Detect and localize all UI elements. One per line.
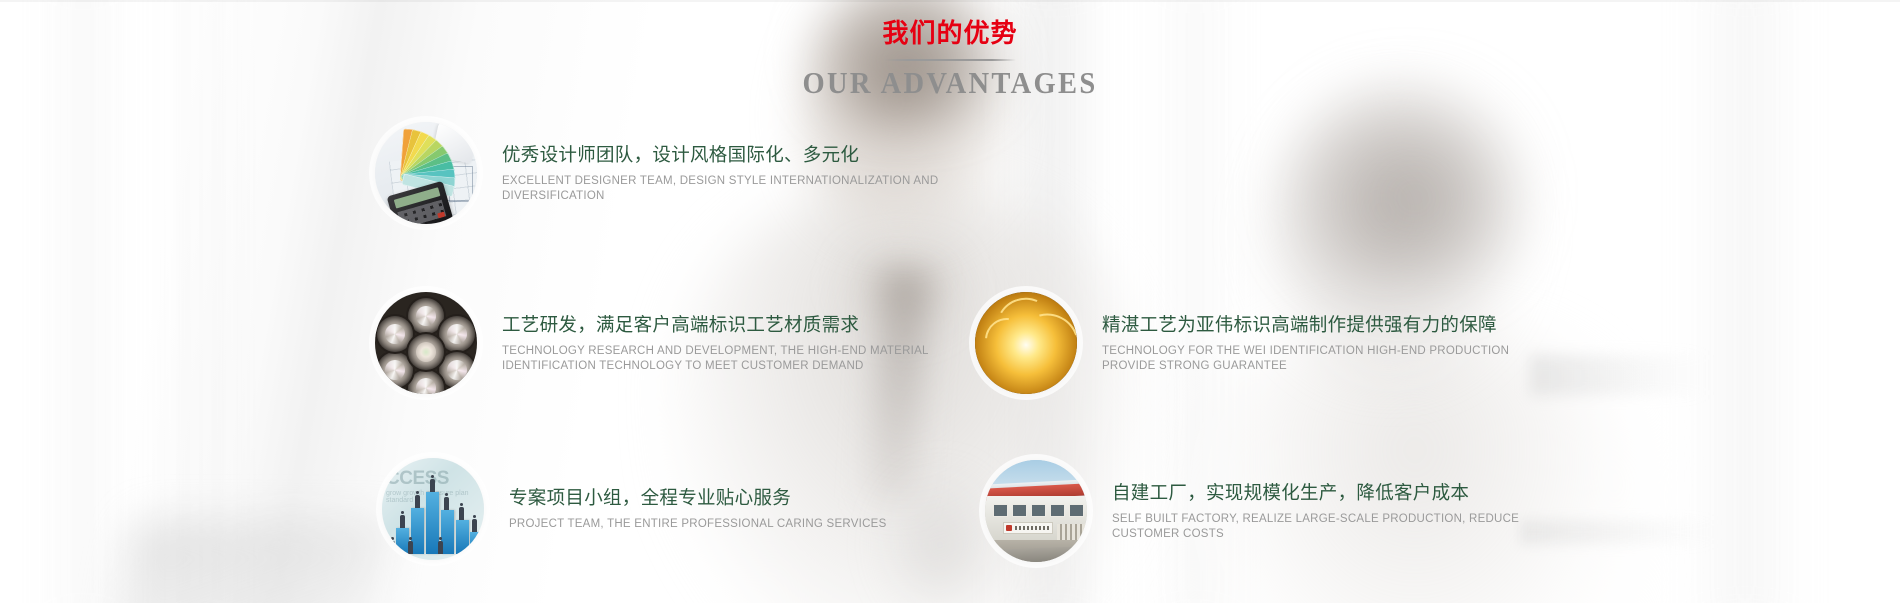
feature-title: 自建工厂，实现规模化生产，降低客户成本	[1112, 481, 1552, 507]
feature-item[interactable]: 精湛工艺为亚伟标识高端制作提供强有力的保障 TECHNOLOGY FOR THE…	[975, 292, 1542, 394]
feature-text: 专案项目小组，全程专业贴心服务 PROJECT TEAM, THE ENTIRE…	[509, 486, 887, 532]
laser-cutting-icon	[975, 292, 1077, 394]
business-chart-icon: CCESSgrow growth measure plan standard	[382, 458, 484, 560]
feature-title: 专案项目小组，全程专业贴心服务	[509, 486, 887, 512]
feature-item[interactable]: CCESSgrow growth measure plan standard 专…	[382, 458, 887, 560]
feature-text: 自建工厂，实现规模化生产，降低客户成本 SELF BUILT FACTORY, …	[1112, 481, 1552, 542]
feature-subtitle: TECHNOLOGY RESEARCH AND DEVELOPMENT, THE…	[502, 344, 942, 374]
feature-item[interactable]: 工艺研发，满足客户高端标识工艺材质需求 TECHNOLOGY RESEARCH …	[375, 292, 942, 394]
feature-list: 优秀设计师团队，设计风格国际化、多元化 EXCELLENT DESIGNER T…	[0, 0, 1900, 603]
metal-pipes-icon	[375, 292, 477, 394]
feature-subtitle: PROJECT TEAM, THE ENTIRE PROFESSIONAL CA…	[509, 517, 887, 532]
feature-subtitle: TECHNOLOGY FOR THE WEI IDENTIFICATION HI…	[1102, 344, 1542, 374]
feature-item[interactable]: 优秀设计师团队，设计风格国际化、多元化 EXCELLENT DESIGNER T…	[375, 122, 942, 224]
feature-text: 工艺研发，满足客户高端标识工艺材质需求 TECHNOLOGY RESEARCH …	[502, 313, 942, 374]
feature-title: 精湛工艺为亚伟标识高端制作提供强有力的保障	[1102, 313, 1542, 339]
feature-subtitle: SELF BUILT FACTORY, REALIZE LARGE-SCALE …	[1112, 512, 1552, 542]
advantages-section: 我们的优势 OUR ADVANTAGES	[0, 0, 1900, 603]
feature-item[interactable]: 自建工厂，实现规模化生产，降低客户成本 SELF BUILT FACTORY, …	[985, 460, 1552, 562]
feature-title: 优秀设计师团队，设计风格国际化、多元化	[502, 143, 942, 169]
color-swatch-blueprint-icon	[375, 122, 477, 224]
feature-text: 优秀设计师团队，设计风格国际化、多元化 EXCELLENT DESIGNER T…	[502, 143, 942, 204]
feature-subtitle: EXCELLENT DESIGNER TEAM, DESIGN STYLE IN…	[502, 174, 942, 204]
feature-title: 工艺研发，满足客户高端标识工艺材质需求	[502, 313, 942, 339]
feature-text: 精湛工艺为亚伟标识高端制作提供强有力的保障 TECHNOLOGY FOR THE…	[1102, 313, 1542, 374]
factory-building-icon	[985, 460, 1087, 562]
